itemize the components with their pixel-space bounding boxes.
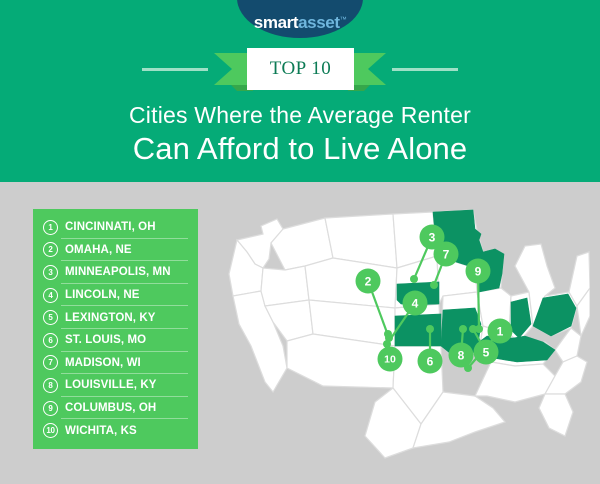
city-name-label: LOUISVILLE, KY (65, 379, 157, 391)
ribbon-label: TOP 10 (270, 58, 332, 80)
marker-rank-label: 8 (458, 349, 465, 363)
list-item[interactable]: 10WICHITA, KS (33, 419, 198, 442)
marker-dot (430, 281, 438, 289)
list-item[interactable]: 6ST. LOUIS, MO (33, 329, 198, 352)
rank-badge: 4 (43, 288, 58, 303)
ribbon-banner: TOP 10 (0, 48, 600, 90)
page-title-line-1: Cities Where the Average Renter (0, 100, 600, 130)
list-item[interactable]: 5LEXINGTON, KY (33, 306, 198, 329)
logo-text-asset: asset (298, 13, 339, 32)
marker-dot (426, 325, 434, 333)
list-item[interactable]: 9COLUMBUS, OH (33, 397, 198, 420)
header-banner: smartasset™ TOP 10 Cities Where the Aver… (0, 0, 600, 182)
city-name-label: OMAHA, NE (65, 244, 132, 256)
list-item[interactable]: 2OMAHA, NE (33, 239, 198, 262)
marker-rank-label: 7 (443, 248, 450, 262)
marker-dot (410, 275, 418, 283)
us-map: 12345678910 (225, 196, 590, 481)
city-name-label: MINNEAPOLIS, MN (65, 266, 171, 278)
ribbon-rule-left (142, 68, 208, 71)
list-item[interactable]: 7MADISON, WI (33, 352, 198, 375)
city-name-label: LEXINGTON, KY (65, 312, 156, 324)
state-fl (539, 394, 573, 436)
state-nv-top (261, 266, 309, 306)
city-name-label: ST. LOUIS, MO (65, 334, 146, 346)
rank-badge: 3 (43, 265, 58, 280)
rank-badge: 10 (43, 423, 58, 438)
list-item[interactable]: 4LINCOLN, NE (33, 284, 198, 307)
rank-badge: 1 (43, 220, 58, 235)
state-al-ga (475, 362, 555, 402)
rank-badge: 6 (43, 333, 58, 348)
city-name-label: MADISON, WI (65, 357, 141, 369)
city-name-label: CINCINNATI, OH (65, 221, 156, 233)
rank-badge: 5 (43, 310, 58, 325)
rank-badge: 9 (43, 401, 58, 416)
smartasset-logo[interactable]: smartasset™ (237, 0, 363, 38)
marker-rank-label: 2 (365, 275, 372, 289)
marker-rank-label: 5 (483, 346, 490, 360)
marker-dot (384, 330, 392, 338)
city-name-label: LINCOLN, NE (65, 289, 140, 301)
marker-dot (459, 325, 467, 333)
marker-rank-label: 10 (384, 354, 396, 366)
list-item[interactable]: 8LOUISVILLE, KY (33, 374, 198, 397)
city-name-label: COLUMBUS, OH (65, 402, 156, 414)
logo-wordmark: smartasset™ (254, 14, 346, 31)
list-item[interactable]: 3MINNEAPOLIS, MN (33, 261, 198, 284)
page-title-line-2: Can Afford to Live Alone (0, 130, 600, 168)
trademark-icon: ™ (340, 16, 347, 23)
rank-badge: 7 (43, 355, 58, 370)
marker-rank-label: 6 (427, 355, 434, 369)
page-title: Cities Where the Average Renter Can Affo… (0, 100, 600, 168)
rank-badge: 8 (43, 378, 58, 393)
logo-text-smart: smart (254, 13, 298, 32)
list-item[interactable]: 1CINCINNATI, OH (33, 216, 198, 239)
city-rank-list: 1CINCINNATI, OH2OMAHA, NE3MINNEAPOLIS, M… (33, 209, 198, 449)
city-name-label: WICHITA, KS (65, 425, 137, 437)
state-ks-highlight (395, 314, 441, 346)
marker-rank-label: 1 (497, 325, 504, 339)
marker-rank-label: 4 (412, 297, 419, 311)
marker-dot (475, 325, 483, 333)
ribbon-rule-right (392, 68, 458, 71)
ribbon-panel: TOP 10 (247, 48, 354, 90)
marker-rank-label: 3 (429, 231, 436, 245)
marker-rank-label: 9 (475, 265, 482, 279)
rank-badge: 2 (43, 242, 58, 257)
